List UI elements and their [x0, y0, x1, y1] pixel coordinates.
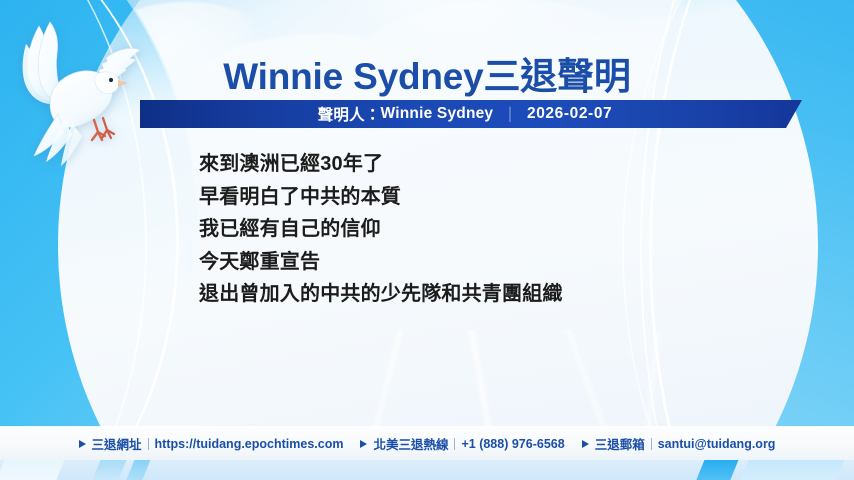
footer-label-website: 三退網址: [92, 434, 142, 453]
statement-line: 退出曾加入的中共的少先隊和共青團組織: [199, 278, 799, 311]
footer-divider: [651, 438, 652, 450]
tuidang-statement-poster: Winnie Sydney三退聲明 聲明人：Winnie Sydney ｜ 20…: [0, 0, 854, 480]
statement-line: 來到澳洲已經30年了: [199, 148, 799, 181]
footer-item-website[interactable]: 三退網址 https://tuidang.epochtimes.com: [79, 434, 344, 453]
footer-label-email: 三退郵箱: [595, 434, 645, 453]
footer-item-email[interactable]: 三退郵箱 santui@tuidang.org: [582, 434, 776, 453]
declarant-banner: 聲明人：Winnie Sydney ｜ 2026-02-07: [140, 100, 802, 128]
footer-value-website[interactable]: https://tuidang.epochtimes.com: [155, 437, 344, 451]
footer-item-hotline[interactable]: 北美三退熱線 +1 (888) 976-6568: [360, 434, 564, 453]
banner-separator: ｜: [502, 103, 518, 125]
declarant-banner-text: 聲明人：Winnie Sydney ｜ 2026-02-07: [318, 103, 613, 125]
bottom-swoosh: [123, 460, 153, 480]
bottom-swoosh: [693, 460, 741, 480]
footer-contact-list: 三退網址 https://tuidang.epochtimes.com 北美三退…: [79, 434, 776, 453]
bottom-swoosh: [89, 460, 129, 480]
footer-divider: [148, 438, 149, 450]
triangle-marker-icon: [360, 440, 367, 448]
bottom-swoosh: [0, 460, 67, 480]
triangle-marker-icon: [582, 440, 589, 448]
bottom-swoosh: [737, 460, 847, 480]
page-title: Winnie Sydney三退聲明: [0, 46, 854, 100]
declaration-date: 2026-02-07: [527, 105, 612, 123]
footer-divider: [454, 438, 455, 450]
footer-value-email[interactable]: santui@tuidang.org: [658, 437, 776, 451]
footer-bar: 三退網址 https://tuidang.epochtimes.com 北美三退…: [0, 427, 854, 460]
triangle-marker-icon: [79, 440, 86, 448]
statement-line: 早看明白了中共的本質: [199, 181, 799, 214]
declarant-label: 聲明人：: [318, 103, 381, 125]
statement-line: 今天鄭重宣告: [199, 246, 799, 279]
declarant-name: Winnie Sydney: [381, 105, 494, 123]
statement-line: 我已經有自己的信仰: [199, 213, 799, 246]
footer-label-hotline: 北美三退熱線: [373, 434, 448, 453]
bottom-accent-strip: [0, 460, 854, 480]
footer-value-hotline[interactable]: +1 (888) 976-6568: [461, 437, 564, 451]
statement-body: 來到澳洲已經30年了 早看明白了中共的本質 我已經有自己的信仰 今天鄭重宣告 退…: [199, 148, 799, 311]
